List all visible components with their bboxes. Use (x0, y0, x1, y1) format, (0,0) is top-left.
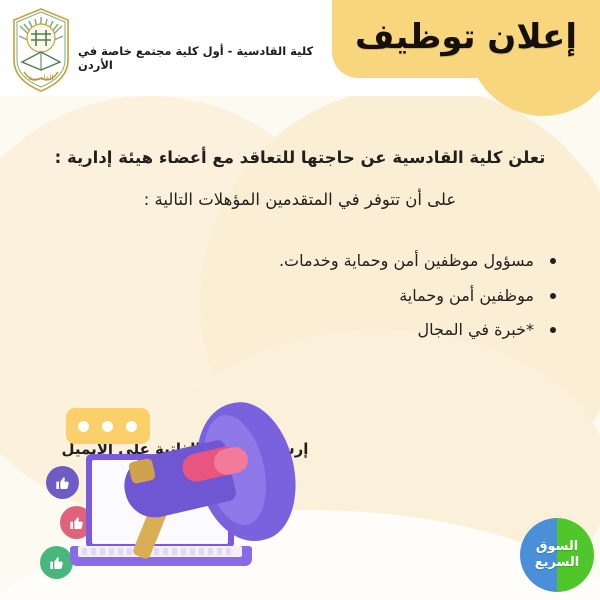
chat-dot-icon (126, 421, 137, 432)
watermark-badge: السوق السريع (520, 518, 594, 592)
announcement-lead: تعلن كلية القادسية عن حاجتها للتعاقد مع … (40, 146, 560, 170)
megaphone-laptop-illustration (18, 398, 318, 600)
chat-dot-icon (78, 421, 89, 432)
bullet-dot-icon (550, 327, 556, 333)
list-item-label: مسؤول موظفين أمن وحماية وخدمات. (279, 251, 534, 270)
chat-dot-icon (102, 421, 113, 432)
list-item-label: موظفين أمن وحماية (399, 286, 534, 305)
list-item: *خبرة في المجال (80, 319, 560, 341)
job-advert-poster: القادسية كلية القادسية - أول كلية مجتمع … (0, 0, 600, 600)
badge-line-2: السريع (535, 555, 579, 571)
laptop-keyboard-icon (78, 546, 242, 557)
thumbs-up-icon-green (40, 546, 73, 579)
badge-text: السوق السريع (520, 518, 594, 592)
list-item-label: *خبرة في المجال (418, 320, 534, 339)
announcement-subtitle: على أن تتوفر في المتقدمين المؤهلات التال… (40, 188, 560, 212)
badge-line-1: السوق (536, 539, 578, 555)
list-item: مسؤول موظفين أمن وحماية وخدمات. (80, 250, 560, 272)
thumbs-up-icon-purple (46, 466, 79, 499)
chat-bubble-icon (66, 408, 150, 444)
requirements-list: مسؤول موظفين أمن وحماية وخدمات. موظفين أ… (80, 250, 560, 354)
bullet-dot-icon (550, 258, 556, 264)
list-item: موظفين أمن وحماية (80, 285, 560, 307)
bullet-dot-icon (550, 293, 556, 299)
